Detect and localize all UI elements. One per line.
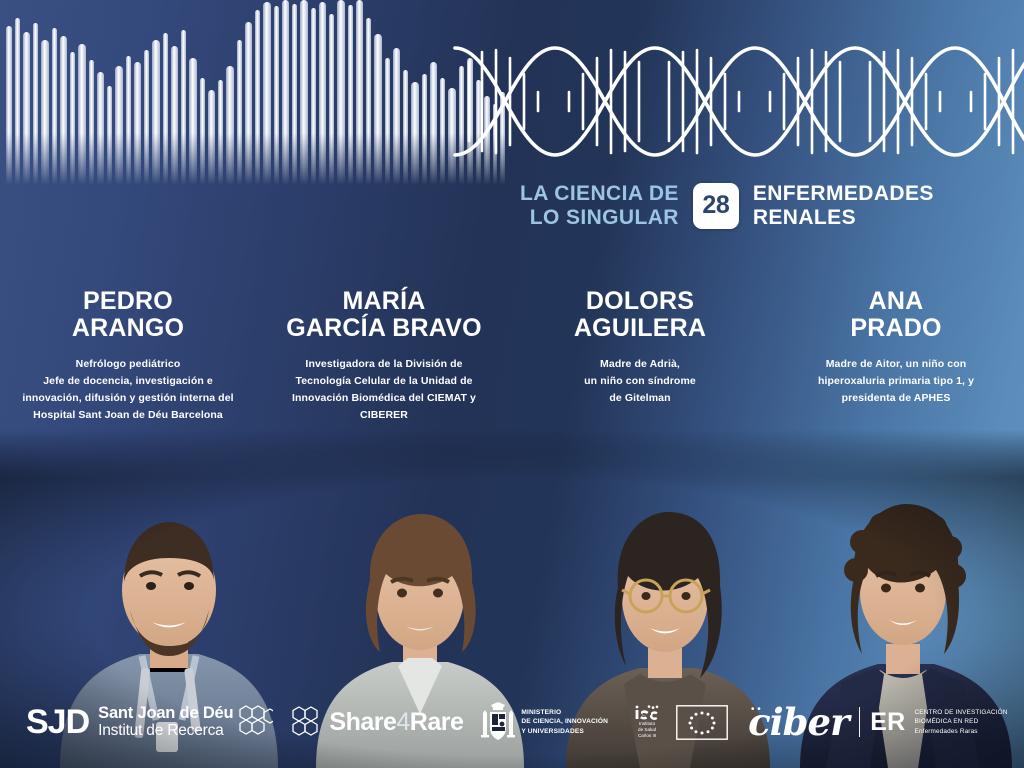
- isciii-line1: Instituto: [638, 721, 656, 727]
- ministerio-line2: DE CIENCIA, INNOVACIÓN: [521, 717, 608, 726]
- spanish-coat-of-arms-icon: [481, 701, 515, 743]
- share4rare-wordmark: Share4Rare: [329, 708, 463, 737]
- dna-helix-icon: [455, 48, 1024, 155]
- poster-canvas: LA CIENCIA DE LO SINGULAR 28 ENFERMEDADE…: [0, 0, 1024, 768]
- episode-title-row: LA CIENCIA DE LO SINGULAR 28 ENFERMEDADE…: [520, 182, 934, 229]
- speaker-name-line2: GARCÍA BRAVO: [286, 315, 481, 342]
- speaker-name-line1: ANA: [850, 288, 941, 315]
- speaker-role: Madre de Adrià,un niño con síndromede Gi…: [584, 356, 696, 407]
- speaker-role: Nefrólogo pediátricoJefe de docencia, in…: [22, 356, 233, 424]
- speaker-name: MARÍA GARCÍA BRAVO: [286, 288, 481, 342]
- logo-ciberer: ·· ciber ER CENTRO DE INVESTIGACIÓN BIOM…: [748, 704, 1007, 741]
- sjd-line2: Institut de Recerca: [98, 723, 233, 740]
- logo-bar: SJD Sant Joan de Déu Institut de Recerca: [0, 676, 1024, 768]
- speaker-name-line1: MARÍA: [286, 288, 481, 315]
- isciii-wordmark: Instituto de Salud Carlos III: [638, 721, 656, 740]
- speaker-role: Investigadora de la División deTecnologí…: [292, 356, 476, 424]
- speaker-name-line1: PEDRO: [72, 288, 184, 315]
- series-title-line2: LO SINGULAR: [520, 206, 679, 230]
- logo-isciii: Instituto de Salud Carlos III: [632, 705, 662, 740]
- logo-sjd: SJD Sant Joan de Déu Institut de Recerca: [26, 705, 273, 740]
- logo-ministerio: MINISTERIO DE CIENCIA, INNOVACIÓN Y UNIV…: [481, 701, 608, 743]
- ciber-word-text: ciber: [748, 700, 849, 744]
- episode-topic: ENFERMEDADES RENALES: [753, 182, 934, 229]
- speaker-name-line2: AGUILERA: [574, 315, 706, 342]
- speaker-role: Madre de Aitor, un niño conhiperoxaluria…: [818, 356, 974, 407]
- isciii-line3: Carlos III: [638, 733, 656, 739]
- series-title: LA CIENCIA DE LO SINGULAR: [520, 182, 679, 229]
- logo-share4rare: Share4Rare: [289, 705, 463, 739]
- ministerio-wordmark: MINISTERIO DE CIENCIA, INNOVACIÓN Y UNIV…: [521, 708, 608, 736]
- episode-number-badge: 28: [693, 183, 739, 229]
- hexagon-cluster-icon: [289, 705, 323, 739]
- speaker-card: PEDRO ARANGO Nefrólogo pediátricoJefe de…: [0, 288, 256, 448]
- ciber-subtitle: CENTRO DE INVESTIGACIÓN BIOMÉDICA EN RED…: [915, 708, 1008, 737]
- share4rare-part2: 4: [396, 708, 409, 736]
- ciber-sub-line2: BIOMÉDICA EN RED: [915, 717, 1008, 727]
- speaker-list: PEDRO ARANGO Nefrólogo pediátricoJefe de…: [0, 288, 1024, 448]
- speaker-name: DOLORS AGUILERA: [574, 288, 706, 342]
- top-graphics: [0, 0, 1024, 185]
- sjd-line1: Sant Joan de Déu: [98, 705, 233, 723]
- speaker-name: ANA PRADO: [850, 288, 941, 342]
- share4rare-part3: Rare: [410, 708, 464, 736]
- ciber-suffix: ER: [870, 708, 905, 737]
- sjd-wordmark: Sant Joan de Déu Institut de Recerca: [98, 705, 233, 740]
- european-union-flag-icon: [676, 705, 728, 740]
- ciber-divider: [859, 707, 861, 737]
- episode-topic-line1: ENFERMEDADES: [753, 182, 934, 206]
- ciber-sub-line3: Enfermedades Raras: [915, 727, 1008, 737]
- sjd-monogram: SJD: [26, 705, 89, 739]
- ministerio-line3: Y UNIVERSIDADES: [521, 727, 608, 736]
- speaker-card: ANA PRADO Madre de Aitor, un niño conhip…: [768, 288, 1024, 448]
- speaker-card: DOLORS AGUILERA Madre de Adrià,un niño c…: [512, 288, 768, 448]
- isciii-logo-icon: [632, 705, 662, 720]
- share4rare-part1: Share: [329, 708, 396, 736]
- ciber-wordmark: ·· ciber: [748, 704, 849, 741]
- series-title-line1: LA CIENCIA DE: [520, 182, 679, 206]
- speaker-name-line2: ARANGO: [72, 315, 184, 342]
- waveform-icon: [6, 0, 505, 185]
- logo-eu: [676, 705, 728, 740]
- speaker-card: MARÍA GARCÍA BRAVO Investigadora de la D…: [256, 288, 512, 448]
- speaker-name-line2: PRADO: [850, 315, 941, 342]
- speaker-name: PEDRO ARANGO: [72, 288, 184, 342]
- episode-topic-line2: RENALES: [753, 206, 934, 230]
- speaker-name-line1: DOLORS: [574, 288, 706, 315]
- hexagon-cluster-icon: [237, 705, 273, 739]
- ministerio-line1: MINISTERIO: [521, 708, 608, 717]
- ciber-sub-line1: CENTRO DE INVESTIGACIÓN: [915, 708, 1008, 718]
- ciber-diaeresis-icon: ··: [750, 702, 762, 717]
